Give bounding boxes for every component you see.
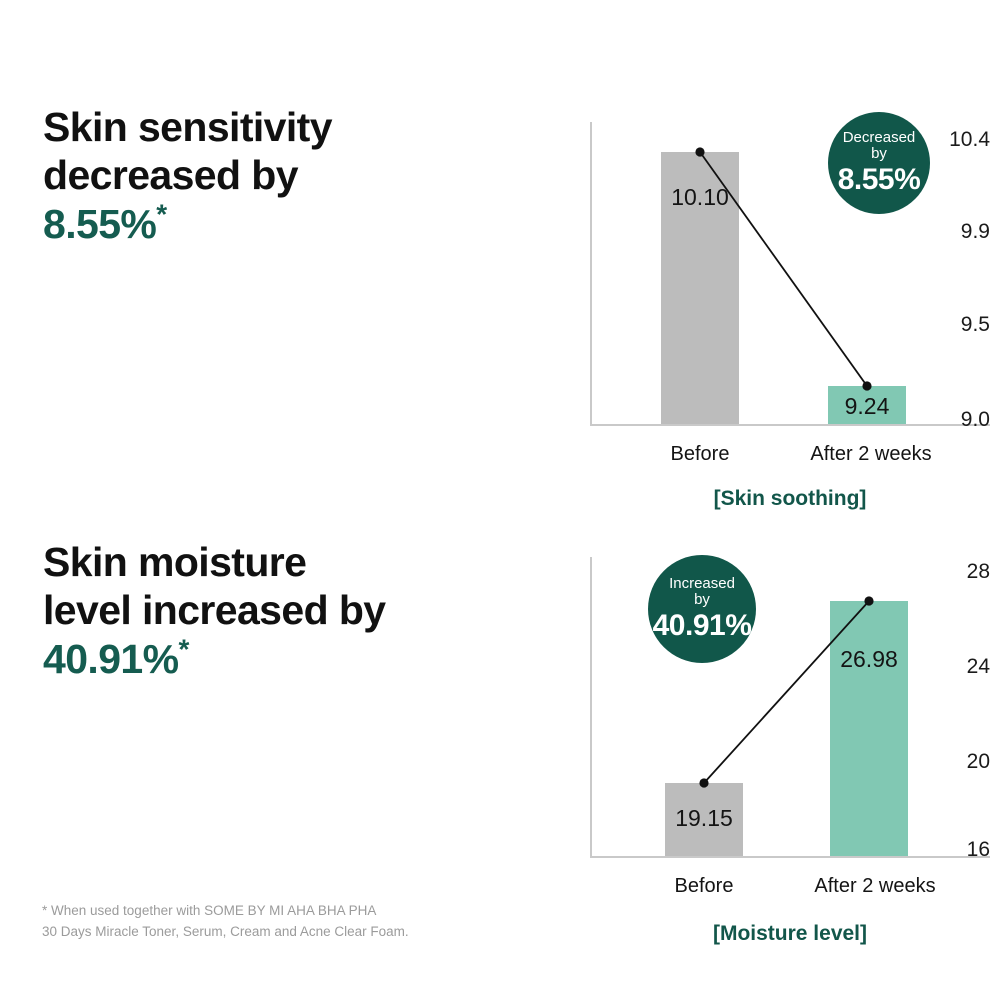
chart-2-xlabel-before: Before	[675, 875, 734, 898]
chart-2-xlabel-after: After 2 weeks	[814, 875, 935, 898]
chart-1-xlabel-before: Before	[671, 443, 730, 466]
headline-2-asterisk: *	[178, 633, 188, 664]
caption-moisture-level: [Moisture level]	[713, 922, 867, 946]
chart-2-badge-percent: 40.91%	[653, 609, 752, 643]
chart-1-badge-lead-1: Decreased	[843, 130, 916, 146]
headline-2-percent: 40.91%	[43, 636, 178, 682]
headline-skin-sensitivity: Skin sensitivity decreased by 8.55%*	[43, 103, 473, 248]
headline-2-line-2: level increased by	[43, 587, 385, 633]
caption-skin-soothing: [Skin soothing]	[714, 487, 867, 511]
chart-2-badge-lead-2: by	[694, 592, 710, 608]
headline-2-line-1: Skin moisture	[43, 539, 306, 585]
chart-skin-soothing: 10.4 9.9 9.5 9.0 10.10 9.24 Before After…	[520, 118, 990, 518]
chart-1-xlabel-after: After 2 weeks	[810, 443, 931, 466]
chart-moisture-level: 28 24 20 16 19.15 26.98 Before After 2 w…	[520, 553, 990, 953]
footnote-line-1: * When used together with SOME BY MI AHA…	[42, 901, 462, 922]
chart-1-badge-lead-2: by	[871, 146, 887, 162]
infographic-page: Skin sensitivity decreased by 8.55%* Ski…	[0, 0, 1000, 1000]
headline-1-percent: 8.55%	[43, 201, 156, 247]
chart-1-decrease-badge: Decreased by 8.55%	[828, 112, 930, 214]
chart-2-increase-badge: Increased by 40.91%	[648, 555, 756, 663]
chart-2-badge-lead-1: Increased	[669, 576, 735, 592]
footnote: * When used together with SOME BY MI AHA…	[42, 901, 462, 943]
footnote-line-2: 30 Days Miracle Toner, Serum, Cream and …	[42, 922, 462, 943]
headline-skin-moisture: Skin moisture level increased by 40.91%*	[43, 538, 483, 683]
chart-1-badge-percent: 8.55%	[838, 163, 921, 197]
headline-1-line-2: decreased by	[43, 152, 298, 198]
headline-1-asterisk: *	[156, 198, 166, 229]
headline-1-line-1: Skin sensitivity	[43, 104, 332, 150]
